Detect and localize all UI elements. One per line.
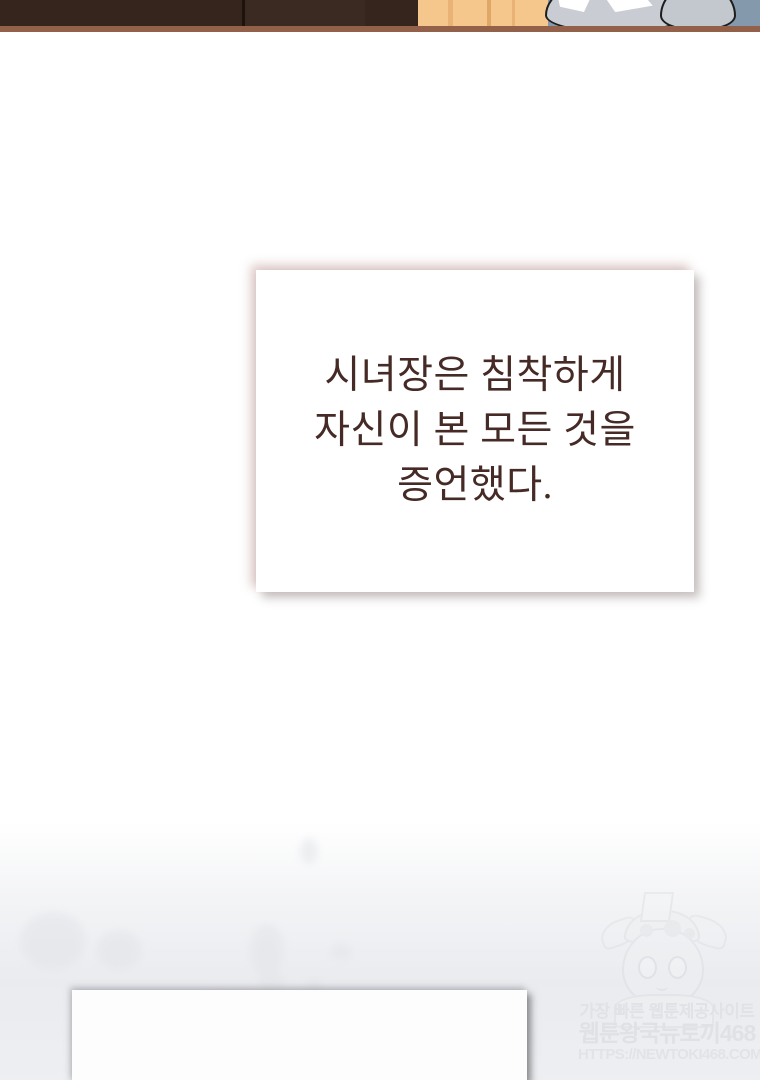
tan-wall-section (418, 0, 548, 27)
background-blotch (250, 924, 284, 976)
next-panel-start (72, 990, 527, 1080)
background-blotch (20, 912, 86, 970)
tan-wall-stripe (512, 0, 515, 27)
previous-panel-tail (0, 0, 760, 32)
wall-seam-line (242, 0, 245, 26)
background-blotch (330, 944, 352, 960)
webtoon-page: 시녀장은 침착하게 자신이 본 모든 것을 증언했다. 가장 빠른 웹툰 (0, 0, 760, 1080)
background-blotch (258, 972, 284, 992)
narration-text: 시녀장은 침착하게 자신이 본 모든 것을 증언했다. (256, 348, 694, 513)
background-blotch (96, 930, 142, 970)
background-blotch (300, 838, 318, 864)
panel-stage: 시녀장은 침착하게 자신이 본 모든 것을 증언했다. 가장 빠른 웹툰 (0, 32, 760, 1080)
narration-box: 시녀장은 침착하게 자신이 본 모든 것을 증언했다. (256, 270, 694, 592)
tan-wall-stripe (448, 0, 453, 27)
dark-wood-shade (245, 0, 365, 26)
tan-wall-stripe (487, 0, 491, 27)
